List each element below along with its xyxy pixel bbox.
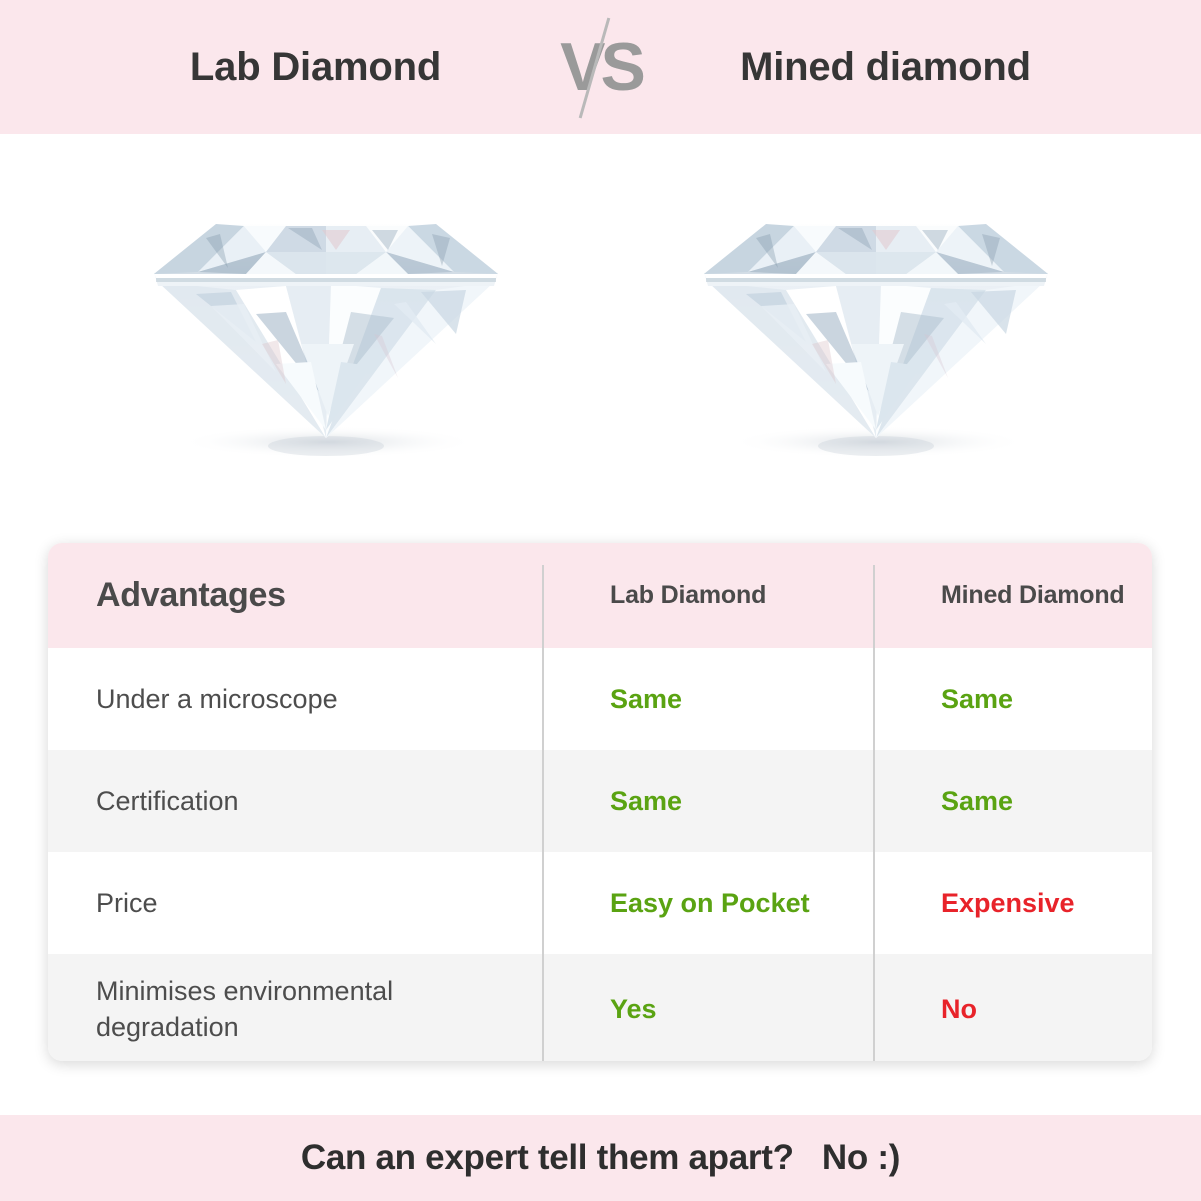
mined-diamond-photo — [686, 194, 1066, 474]
column-header-mined-diamond: Mined Diamond — [873, 543, 1152, 648]
cell-mined-microscope: Same — [873, 648, 1152, 750]
header-right-title-wrap: Mined diamond — [661, 45, 1111, 90]
cell-mined-environmental: No — [873, 954, 1152, 1061]
footer-question-answer: Can an expert tell them apart? No :) — [301, 1138, 900, 1178]
row-label-environmental: Minimises environmental degradation — [48, 954, 542, 1061]
table-header-row: Advantages Lab Diamond Mined Diamond — [48, 543, 1152, 648]
table-row: Certification Same Same — [48, 750, 1152, 852]
footer-band: Can an expert tell them apart? No :) — [0, 1115, 1201, 1201]
row-label-microscope: Under a microscope — [48, 648, 542, 750]
table-body: Under a microscope Same Same Certificati… — [48, 648, 1152, 1061]
infographic-page: Lab Diamond VS Mined diamond — [0, 0, 1201, 1201]
diamond-illustration-right — [686, 194, 1066, 474]
cell-mined-certification: Same — [873, 750, 1152, 852]
header-inner: Lab Diamond VS Mined diamond — [0, 12, 1201, 122]
table-head: Advantages Lab Diamond Mined Diamond — [48, 543, 1152, 648]
diamond-illustration-left — [136, 194, 516, 474]
versus-badge: VS — [541, 12, 661, 122]
header-left-title-wrap: Lab Diamond — [91, 45, 541, 90]
header-band: Lab Diamond VS Mined diamond — [0, 0, 1201, 134]
table-row: Minimises environmental degradation Yes … — [48, 954, 1152, 1061]
cell-lab-environmental: Yes — [542, 954, 873, 1061]
column-header-advantages: Advantages — [48, 543, 542, 648]
row-label-price: Price — [48, 852, 542, 954]
diamond-showcase — [0, 134, 1201, 534]
cell-lab-price: Easy on Pocket — [542, 852, 873, 954]
column-header-lab-diamond: Lab Diamond — [542, 543, 873, 648]
header-left-title: Lab Diamond — [190, 45, 441, 89]
lab-diamond-photo — [136, 194, 516, 474]
row-label-certification: Certification — [48, 750, 542, 852]
cell-lab-microscope: Same — [542, 648, 873, 750]
header-right-title: Mined diamond — [740, 45, 1031, 89]
comparison-card: Advantages Lab Diamond Mined Diamond Und… — [48, 543, 1152, 1061]
table-row: Under a microscope Same Same — [48, 648, 1152, 750]
cell-mined-price: Expensive — [873, 852, 1152, 954]
cell-lab-certification: Same — [542, 750, 873, 852]
comparison-table: Advantages Lab Diamond Mined Diamond Und… — [48, 543, 1152, 1061]
table-row: Price Easy on Pocket Expensive — [48, 852, 1152, 954]
